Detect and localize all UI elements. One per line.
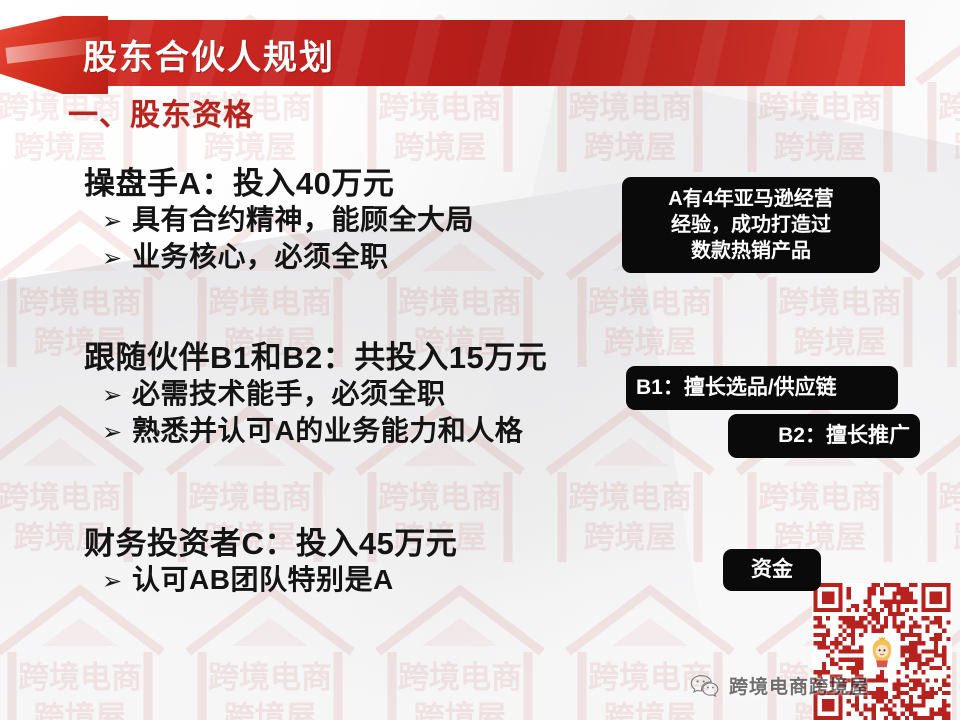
- callout-c-line-1: 资金: [729, 556, 815, 583]
- block-b-heading: 跟随伙伴B1和B2：共投入15万元: [84, 340, 547, 376]
- block-b-bullet-1: ➢ 必需技术能手，必须全职: [102, 376, 547, 413]
- section-heading: 一、股东资格: [68, 101, 254, 131]
- bullet-arrow-icon: ➢: [102, 243, 132, 275]
- bullet-text: 具有合约精神，能顾全大局: [132, 202, 474, 239]
- callout-box-funding: 资金: [723, 549, 821, 591]
- block-a-heading: 操盘手A：投入40万元: [84, 166, 474, 202]
- callout-a-line-3: 数款热销产品: [630, 238, 872, 264]
- bullet-text: 认可AB团队特别是A: [132, 562, 394, 599]
- wechat-icon: [690, 674, 720, 698]
- footer-brand-text: 跨境电商跨境屋: [729, 672, 869, 699]
- page-title: 股东合伙人规划: [83, 41, 335, 75]
- block-c-heading: 财务投资者C：投入45万元: [84, 526, 457, 562]
- content-block-c: 财务投资者C：投入45万元 ➢ 认可AB团队特别是A: [84, 526, 457, 599]
- qr-code[interactable]: [812, 583, 952, 720]
- callout-box-b1: B1：擅长选品/供应链: [626, 366, 898, 410]
- bullet-text: 熟悉并认可A的业务能力和人格: [132, 413, 523, 450]
- callout-box-a: A有4年亚马逊经营 经验，成功打造过 数款热销产品: [622, 177, 880, 273]
- block-b-bullet-2: ➢ 熟悉并认可A的业务能力和人格: [102, 413, 547, 450]
- slide-canvas: 跨境电商跨境屋跨境电商跨境屋跨境电商跨境屋跨境电商跨境屋跨境电商跨境屋跨境电商跨…: [0, 0, 960, 720]
- bullet-arrow-icon: ➢: [102, 566, 132, 598]
- bullet-arrow-icon: ➢: [102, 380, 132, 412]
- callout-b2-line-1: B2：擅长推广: [738, 422, 910, 449]
- bullet-text: 业务核心，必须全职: [132, 239, 389, 276]
- block-c-bullet-1: ➢ 认可AB团队特别是A: [102, 562, 457, 599]
- callout-a-line-2: 经验，成功打造过: [630, 212, 872, 238]
- callout-b1-line-1: B1：擅长选品/供应链: [636, 374, 888, 401]
- title-banner: 股东合伙人规划: [0, 20, 905, 86]
- bullet-arrow-icon: ➢: [102, 206, 132, 238]
- bullet-text: 必需技术能手，必须全职: [132, 376, 446, 413]
- block-a-bullet-2: ➢ 业务核心，必须全职: [102, 239, 474, 276]
- content-block-a: 操盘手A：投入40万元 ➢ 具有合约精神，能顾全大局 ➢ 业务核心，必须全职: [84, 166, 474, 276]
- footer-watermark: 跨境电商跨境屋: [690, 672, 869, 699]
- block-a-bullet-1: ➢ 具有合约精神，能顾全大局: [102, 202, 474, 239]
- callout-a-line-1: A有4年亚马逊经营: [630, 186, 872, 212]
- qr-avatar-icon: [865, 635, 899, 669]
- callout-box-b2: B2：擅长推广: [728, 414, 920, 458]
- content-block-b: 跟随伙伴B1和B2：共投入15万元 ➢ 必需技术能手，必须全职 ➢ 熟悉并认可A…: [84, 340, 547, 450]
- bullet-arrow-icon: ➢: [102, 417, 132, 449]
